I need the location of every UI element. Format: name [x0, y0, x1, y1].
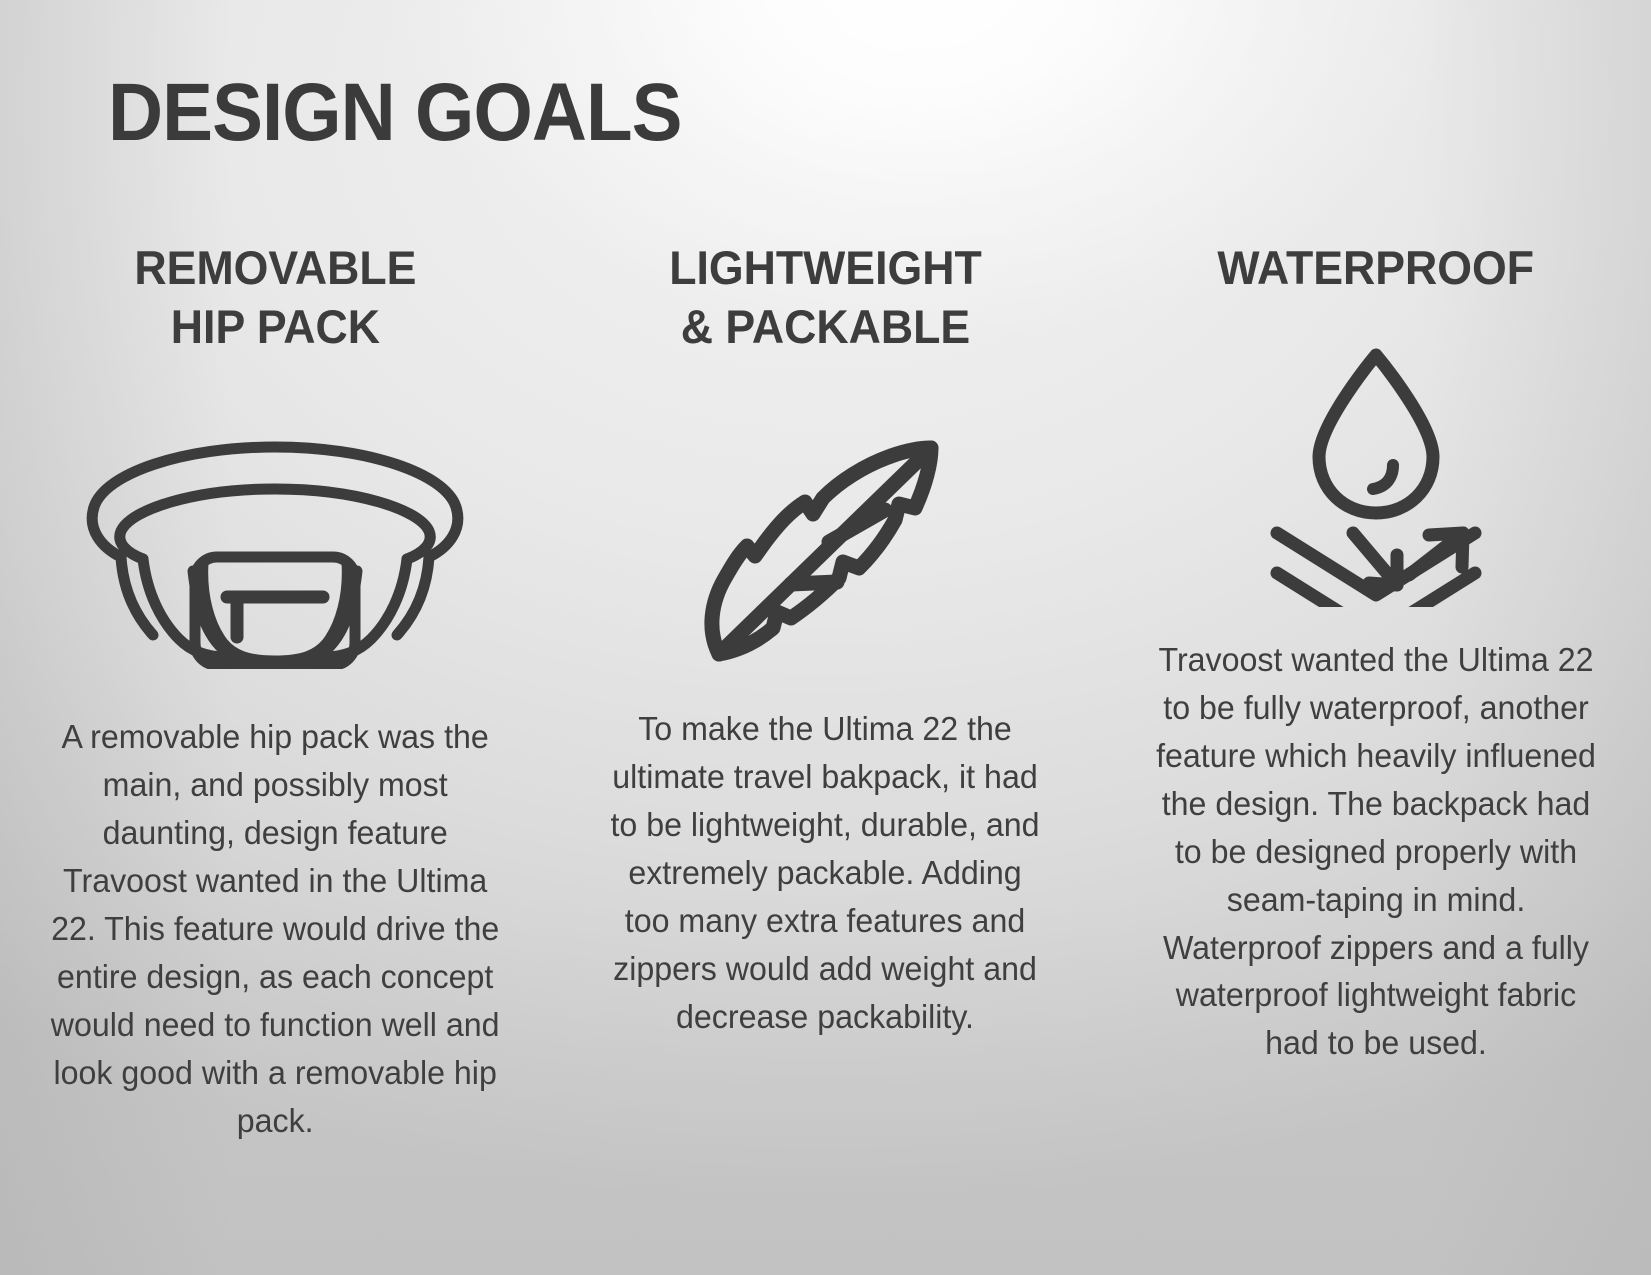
goal-body-3: Travoost wanted the Ultima 22 to be full…: [1150, 637, 1601, 1068]
feather-icon: [578, 376, 1072, 706]
goal-column-lightweight-packable: LIGHTWEIGHT & PACKABLE To make the Ultim…: [550, 238, 1100, 1042]
goal-body-2: To make the Ultima 22 the ultimate trave…: [609, 706, 1041, 1041]
goals-columns: REMOVABLE HIP PACK: [0, 238, 1651, 1145]
goal-column-waterproof: WATERPROOF: [1101, 238, 1651, 1068]
hip-pack-icon: [28, 384, 522, 714]
goal-body-1: A removable hip pack was the main, and p…: [38, 714, 513, 1145]
design-goals-slide: DESIGN GOALS REMOVABLE HIP PACK: [0, 0, 1651, 1275]
goal-heading-1: REMOVABLE HIP PACK: [134, 238, 416, 356]
goal-heading-3: WATERPROOF: [1217, 238, 1534, 297]
goal-heading-2: LIGHTWEIGHT & PACKABLE: [669, 238, 982, 356]
page-title: DESIGN GOALS: [108, 72, 682, 154]
water-repellent-icon: [1129, 307, 1623, 637]
goal-column-removable-hip-pack: REMOVABLE HIP PACK: [0, 238, 550, 1145]
